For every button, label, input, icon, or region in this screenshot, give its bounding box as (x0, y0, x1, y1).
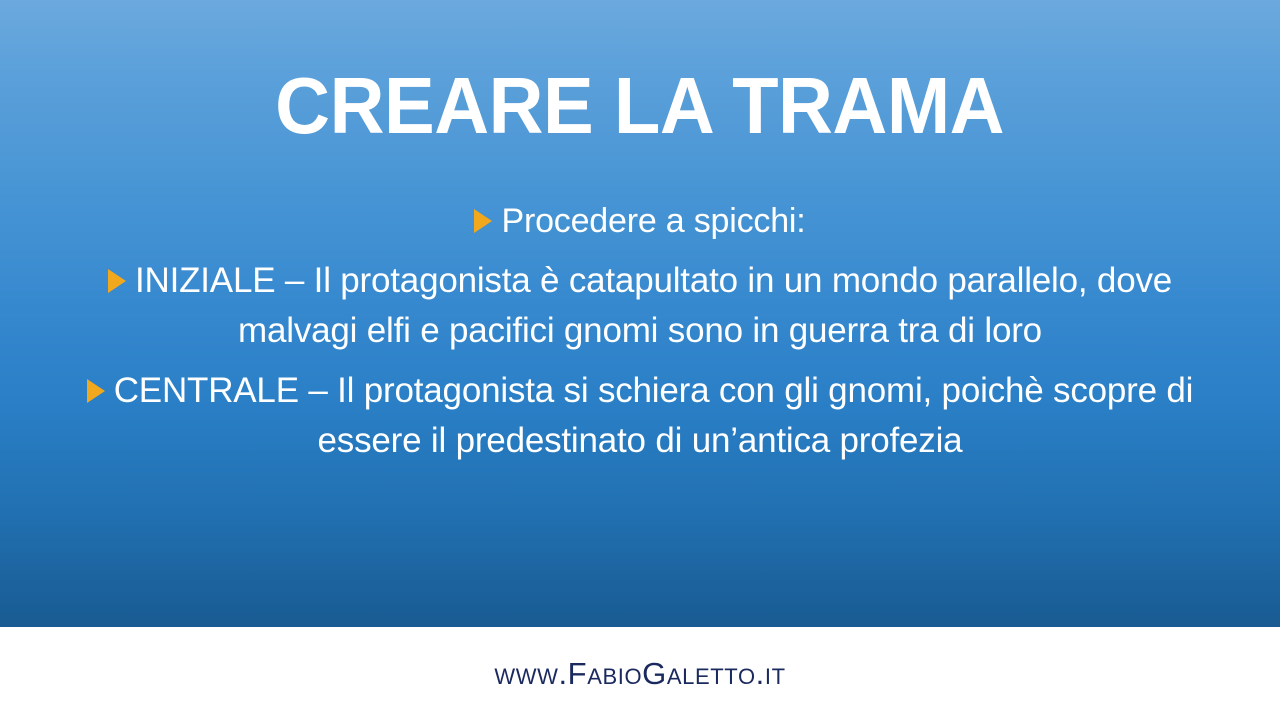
triangle-bullet-icon (87, 379, 105, 403)
triangle-bullet-icon (108, 269, 126, 293)
body-content: Procedere a spicchi: INIZIALE – Il prota… (62, 196, 1218, 466)
title-block: CREARE LA TRAMA (0, 64, 1280, 148)
spacer-2 (62, 356, 1218, 366)
website-url: www.FabioGaletto.it (494, 656, 785, 692)
presentation-slide: CREARE LA TRAMA Procedere a spicchi: INI… (0, 0, 1280, 720)
spacer-1 (62, 246, 1218, 256)
bullet-item-3-label: CENTRALE – Il protagonista si schiera co… (114, 371, 1194, 460)
bullet-item-1: Procedere a spicchi: (62, 196, 1218, 246)
bullet-item-3: CENTRALE – Il protagonista si schiera co… (62, 366, 1218, 466)
bullet-item-1-label: Procedere a spicchi: (501, 202, 805, 240)
bullet-item-2-label: INIZIALE – Il protagonista è catapultato… (135, 261, 1172, 350)
triangle-bullet-icon (474, 209, 492, 233)
slide-background: CREARE LA TRAMA Procedere a spicchi: INI… (0, 0, 1280, 627)
bullet-item-2: INIZIALE – Il protagonista è catapultato… (62, 256, 1218, 356)
page-title: CREARE LA TRAMA (276, 64, 1005, 148)
footer-band: www.FabioGaletto.it (0, 627, 1280, 720)
